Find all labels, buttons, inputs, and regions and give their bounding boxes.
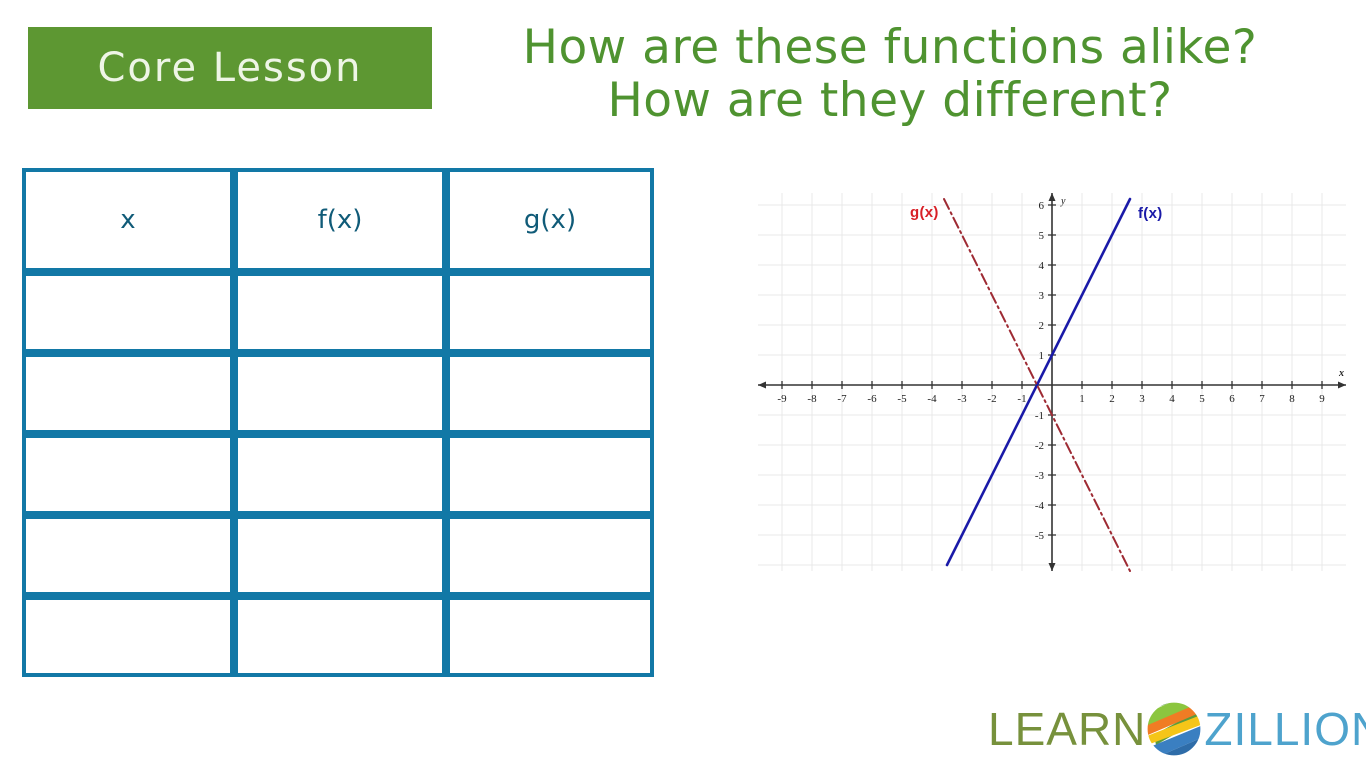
function-table: x f(x) g(x): [22, 168, 654, 677]
x-tick-label: 5: [1199, 393, 1205, 405]
table-cell-gx[interactable]: [446, 596, 654, 677]
x-tick-label: 9: [1319, 393, 1325, 405]
x-tick-label: -9: [777, 393, 787, 405]
table-row: [22, 353, 654, 434]
table-cell-x[interactable]: [22, 434, 234, 515]
logo-word-learn: LEARN: [988, 706, 1146, 752]
x-axis-label: x: [1338, 368, 1344, 379]
page-title-line-1: How are these functions alike?: [440, 22, 1340, 75]
graph-svg: -9-8-7-6-5-4-3-2-1123456789654321-1-2-3-…: [750, 178, 1360, 578]
table-cell-gx[interactable]: [446, 515, 654, 596]
column-header-fx: f(x): [238, 207, 442, 233]
logo-word-zillion: ZILLION: [1204, 706, 1366, 752]
table-row: [22, 434, 654, 515]
table-row: [22, 596, 654, 677]
y-tick-label: 3: [1039, 290, 1045, 302]
column-header-x: x: [26, 207, 230, 233]
table-cell-fx[interactable]: [234, 515, 446, 596]
table-header-cell-fx: f(x): [234, 168, 446, 272]
y-tick-label: -2: [1035, 440, 1044, 452]
x-tick-label: -3: [957, 393, 967, 405]
table-cell-gx[interactable]: [446, 434, 654, 515]
table-cell-gx[interactable]: [446, 272, 654, 353]
axes: [758, 193, 1346, 571]
y-tick-label: -4: [1035, 500, 1045, 512]
y-tick-label: -5: [1035, 530, 1045, 542]
x-tick-label: 3: [1139, 393, 1145, 405]
globe-icon: [1146, 701, 1202, 757]
y-axis-arrow-down: [1049, 563, 1056, 571]
y-tick-label: 4: [1039, 260, 1045, 272]
x-tick-label: -8: [807, 393, 817, 405]
x-axis-arrow: [1338, 382, 1346, 389]
x-tick-label: 2: [1109, 393, 1115, 405]
coordinate-graph: -9-8-7-6-5-4-3-2-1123456789654321-1-2-3-…: [750, 178, 1360, 578]
x-tick-label: -2: [987, 393, 996, 405]
table-cell-fx[interactable]: [234, 434, 446, 515]
table-header-row: x f(x) g(x): [22, 168, 654, 272]
table-cell-fx[interactable]: [234, 596, 446, 677]
x-tick-label: 7: [1259, 393, 1265, 405]
x-tick-label: 4: [1169, 393, 1175, 405]
y-tick-label: 5: [1039, 230, 1045, 242]
table-cell-gx[interactable]: [446, 353, 654, 434]
core-lesson-label: Core Lesson: [98, 48, 363, 88]
learnzillion-logo: LEARN ZILLION: [988, 700, 1366, 758]
y-axis-arrow: [1049, 193, 1056, 201]
table-cell-x[interactable]: [22, 515, 234, 596]
x-tick-label: 8: [1289, 393, 1295, 405]
x-tick-label: -5: [897, 393, 907, 405]
table-cell-fx[interactable]: [234, 353, 446, 434]
y-tick-label: 2: [1039, 320, 1045, 332]
table-cell-x[interactable]: [22, 272, 234, 353]
table-row: [22, 272, 654, 353]
y-tick-label: 6: [1039, 200, 1045, 212]
x-axis-arrow-left: [758, 382, 766, 389]
graph-label-fx: f(x): [1138, 205, 1163, 222]
x-tick-label: -4: [927, 393, 937, 405]
table-row: [22, 515, 654, 596]
y-tick-label: -3: [1035, 470, 1045, 482]
x-tick-label: 6: [1229, 393, 1235, 405]
y-tick-label: -1: [1035, 410, 1044, 422]
column-header-gx: g(x): [450, 207, 650, 233]
y-tick-label: 1: [1039, 350, 1045, 362]
core-lesson-badge: Core Lesson: [28, 27, 432, 109]
x-tick-label: -6: [867, 393, 877, 405]
table-header-cell-gx: g(x): [446, 168, 654, 272]
table-cell-x[interactable]: [22, 596, 234, 677]
table-cell-x[interactable]: [22, 353, 234, 434]
x-tick-label: -1: [1017, 393, 1026, 405]
table-cell-fx[interactable]: [234, 272, 446, 353]
y-axis-label: y: [1060, 196, 1066, 207]
table-header-cell-x: x: [22, 168, 234, 272]
page-title-line-2: How are they different?: [440, 75, 1340, 128]
x-tick-label: 1: [1079, 393, 1085, 405]
page-title: How are these functions alike? How are t…: [440, 22, 1340, 127]
graph-label-gx: g(x): [910, 204, 939, 221]
slide-canvas: Core Lesson How are these functions alik…: [0, 0, 1366, 768]
x-tick-label: -7: [837, 393, 847, 405]
